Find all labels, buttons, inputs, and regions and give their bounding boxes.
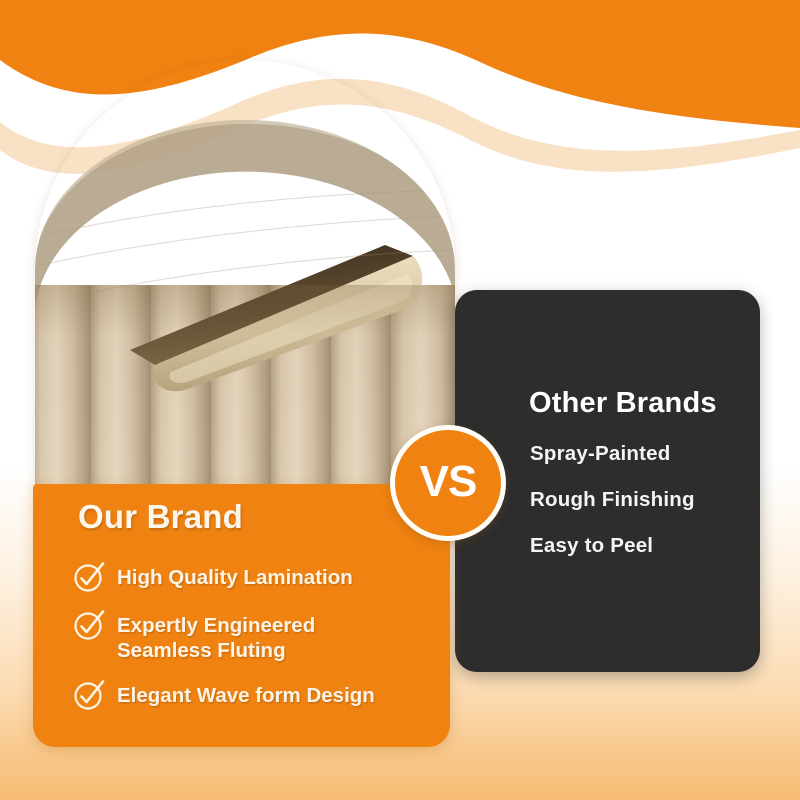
comparison-infographic: Other Brands Spray-Painted Rough Finishi… bbox=[0, 0, 800, 800]
other-brands-list: Spray-Painted Rough Finishing Easy to Pe… bbox=[530, 442, 695, 558]
list-item: Expertly Engineered Seamless Fluting bbox=[73, 610, 448, 663]
list-item: High Quality Lamination bbox=[73, 562, 448, 593]
check-circle-icon bbox=[73, 559, 107, 593]
feature-label: High Quality Lamination bbox=[117, 562, 353, 590]
vs-label: VS bbox=[420, 460, 477, 504]
our-brand-title: Our Brand bbox=[78, 498, 243, 536]
list-item: Easy to Peel bbox=[530, 534, 695, 558]
wood-texture-illustration bbox=[35, 60, 455, 490]
check-circle-icon bbox=[73, 677, 107, 711]
our-brand-panel: Our Brand High Quality Lamination Expert… bbox=[33, 484, 450, 747]
feature-label: Elegant Wave form Design bbox=[117, 680, 375, 708]
feature-label: Expertly Engineered Seamless Fluting bbox=[117, 610, 315, 663]
list-item: Elegant Wave form Design bbox=[73, 680, 448, 711]
other-brands-title: Other Brands bbox=[529, 387, 717, 420]
list-item: Spray-Painted bbox=[530, 442, 695, 466]
check-circle-icon bbox=[73, 607, 107, 641]
vs-badge: VS bbox=[390, 425, 506, 541]
our-brand-feature-list: High Quality Lamination Expertly Enginee… bbox=[73, 562, 448, 711]
product-image-fluted-wood bbox=[35, 60, 455, 490]
list-item: Rough Finishing bbox=[530, 488, 695, 512]
